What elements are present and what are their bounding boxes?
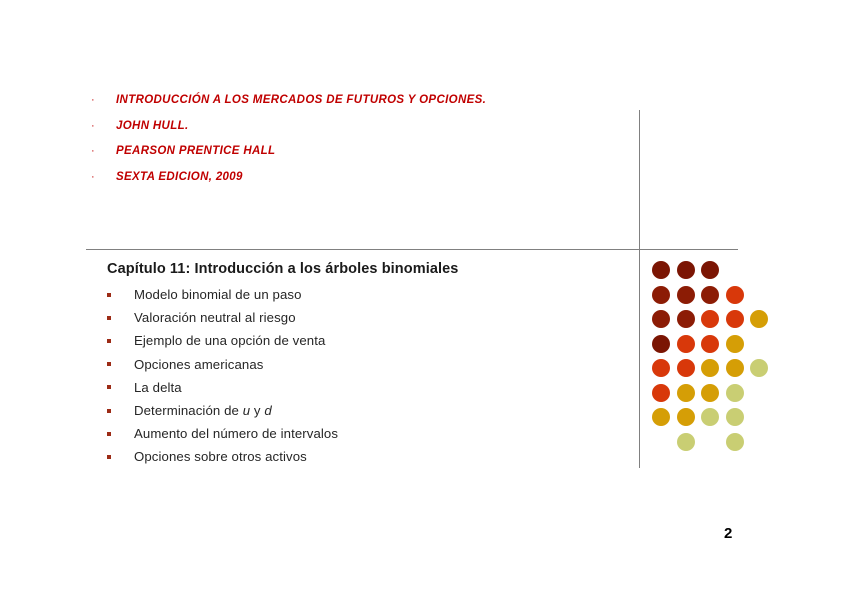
reference-item-label: INTRODUCCIÓN A LOS MERCADOS DE FUTUROS Y… (116, 94, 486, 106)
reference-item-label: PEARSON PRENTICE HALL (116, 145, 275, 157)
reference-item: · INTRODUCCIÓN A LOS MERCADOS DE FUTUROS… (86, 94, 616, 120)
square-bullet-icon (107, 293, 134, 297)
decor-dot (726, 433, 744, 451)
list-item: Ejemplo de una opción de venta (107, 329, 587, 352)
list-item: Opciones sobre otros activos (107, 445, 587, 468)
list-item: Valoración neutral al riesgo (107, 306, 587, 329)
list-item-label: Valoración neutral al riesgo (134, 310, 296, 325)
list-item: Modelo binomial de un paso (107, 283, 587, 306)
decor-dot (652, 261, 670, 279)
decor-dot (701, 384, 719, 402)
square-bullet-icon (107, 316, 134, 320)
page-number: 2 (724, 525, 732, 542)
list-item-label: Determinación de u y d (134, 403, 272, 418)
square-bullet-icon (107, 455, 134, 459)
reference-bullet-icon: · (86, 121, 116, 132)
decor-dot (726, 359, 744, 377)
reference-item-label: SEXTA EDICION, 2009 (116, 171, 243, 183)
list-item-label: La delta (134, 380, 182, 395)
list-item-label: Modelo binomial de un paso (134, 287, 302, 302)
decor-dot (750, 310, 768, 328)
decor-dot (701, 261, 719, 279)
decor-dot (652, 384, 670, 402)
reference-item-label: JOHN HULL. (116, 120, 189, 132)
decorative-dot-grid (652, 261, 774, 446)
decor-dot (726, 310, 744, 328)
decor-dot (652, 408, 670, 426)
decor-dot (652, 310, 670, 328)
list-item: Aumento del número de intervalos (107, 422, 587, 445)
chapter-block: Capítulo 11: Introducción a los árboles … (107, 261, 587, 469)
square-bullet-icon (107, 362, 134, 366)
decor-dot (701, 408, 719, 426)
square-bullet-icon (107, 432, 134, 436)
list-item-label: Opciones americanas (134, 357, 263, 372)
decor-dot (652, 286, 670, 304)
reference-bullet-icon: · (86, 95, 116, 106)
page-title: Capítulo 11: Introducción a los árboles … (107, 261, 587, 277)
square-bullet-icon (107, 385, 134, 389)
decor-dot (652, 335, 670, 353)
decor-dot (701, 286, 719, 304)
decor-dot (677, 359, 695, 377)
decor-dot (677, 384, 695, 402)
decor-dot (726, 384, 744, 402)
horizontal-divider (86, 249, 738, 250)
decor-dot (677, 310, 695, 328)
reference-block: · INTRODUCCIÓN A LOS MERCADOS DE FUTUROS… (86, 94, 616, 196)
decor-dot (726, 286, 744, 304)
square-bullet-icon (107, 339, 134, 343)
decor-dot (677, 261, 695, 279)
reference-item: · SEXTA EDICION, 2009 (86, 171, 616, 197)
decor-dot (652, 359, 670, 377)
list-item-label: Ejemplo de una opción de venta (134, 333, 325, 348)
reference-bullet-icon: · (86, 146, 116, 157)
vertical-divider (639, 110, 640, 468)
decor-dot (701, 310, 719, 328)
decor-dot (726, 408, 744, 426)
decor-dot (701, 335, 719, 353)
decor-dot (750, 359, 768, 377)
decor-dot (677, 335, 695, 353)
square-bullet-icon (107, 409, 134, 413)
decor-dot (701, 359, 719, 377)
list-item-label: Aumento del número de intervalos (134, 426, 338, 441)
decor-dot (726, 335, 744, 353)
list-item: Determinación de u y d (107, 399, 587, 422)
decor-dot (677, 408, 695, 426)
list-item-label: Opciones sobre otros activos (134, 449, 307, 464)
list-item: La delta (107, 376, 587, 399)
reference-item: · JOHN HULL. (86, 120, 616, 146)
reference-item: · PEARSON PRENTICE HALL (86, 145, 616, 171)
decor-dot (677, 286, 695, 304)
reference-bullet-icon: · (86, 172, 116, 183)
slide-canvas: · INTRODUCCIÓN A LOS MERCADOS DE FUTUROS… (0, 0, 848, 599)
list-item: Opciones americanas (107, 353, 587, 376)
decor-dot (677, 433, 695, 451)
